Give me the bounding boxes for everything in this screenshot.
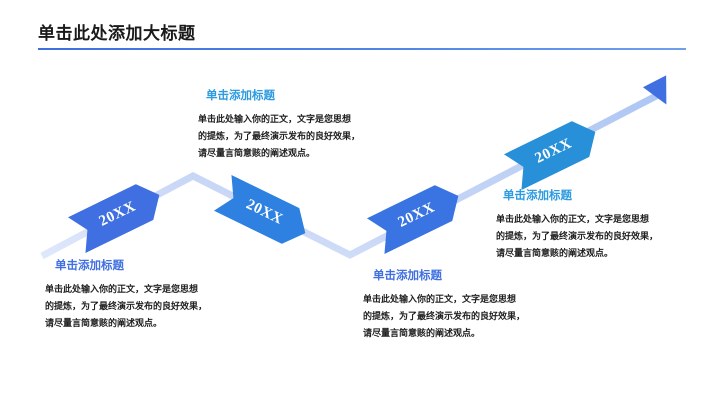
milestone-body-line: 单击此处输入你的正文，文字是您思想 xyxy=(363,291,525,308)
milestone-heading-1[interactable]: 单击添加标题 xyxy=(45,258,207,274)
milestone-body-line: 请尽量言简意赅的阐述观点。 xyxy=(45,315,207,332)
milestone-body-line: 的提炼，为了最终演示发布的良好效果， xyxy=(45,298,207,315)
milestone-body-2[interactable]: 单击此处输入你的正文，文字是您思想 的提炼，为了最终演示发布的良好效果， 请尽量… xyxy=(198,111,360,162)
milestone-text-block-2: 单击添加标题 单击此处输入你的正文，文字是您思想 的提炼，为了最终演示发布的良好… xyxy=(198,88,360,162)
milestone-body-line: 请尽量言简意赅的阐述观点。 xyxy=(198,145,360,162)
milestone-heading-2[interactable]: 单击添加标题 xyxy=(198,88,360,104)
milestone-body-line: 单击此处输入你的正文，文字是您思想 xyxy=(198,111,360,128)
milestone-banner-4[interactable]: 20XX xyxy=(504,114,604,190)
milestone-banner-1[interactable]: 20XX xyxy=(68,177,168,253)
milestone-body-line: 的提炼，为了最终演示发布的良好效果， xyxy=(363,308,525,325)
milestone-body-line: 的提炼，为了最终演示发布的良好效果， xyxy=(198,128,360,145)
milestone-body-line: 单击此处输入你的正文，文字是您思想 xyxy=(45,281,207,298)
milestone-year-label-4: 20XX xyxy=(532,135,574,167)
milestone-body-line: 请尽量言简意赅的阐述观点。 xyxy=(496,245,658,262)
milestone-banner-2[interactable]: 20XX xyxy=(214,175,314,251)
milestone-year-label-2: 20XX xyxy=(243,196,285,228)
page-title[interactable]: 单击此处添加大标题 xyxy=(38,23,196,45)
milestone-year-label-3: 20XX xyxy=(395,199,437,231)
milestone-year-label-1: 20XX xyxy=(96,198,138,230)
milestone-body-4[interactable]: 单击此处输入你的正文，文字是您思想 的提炼，为了最终演示发布的良好效果， 请尽量… xyxy=(496,211,658,262)
slide-header: 单击此处添加大标题 xyxy=(38,23,686,53)
title-underline-divider xyxy=(38,48,686,50)
milestone-body-line: 请尽量言简意赅的阐述观点。 xyxy=(363,325,525,342)
arrow-head-icon xyxy=(643,75,678,110)
milestone-body-1[interactable]: 单击此处输入你的正文，文字是您思想 的提炼，为了最终演示发布的良好效果， 请尽量… xyxy=(45,281,207,332)
milestone-heading-3[interactable]: 单击添加标题 xyxy=(363,268,525,284)
milestone-heading-4[interactable]: 单击添加标题 xyxy=(496,188,658,204)
milestone-text-block-4: 单击添加标题 单击此处输入你的正文，文字是您思想 的提炼，为了最终演示发布的良好… xyxy=(496,188,658,262)
slide-canvas: 单击此处添加大标题 20XX 20XX 20XX 20XX 单击添加标题 xyxy=(0,0,720,405)
milestone-body-3[interactable]: 单击此处输入你的正文，文字是您思想 的提炼，为了最终演示发布的良好效果， 请尽量… xyxy=(363,291,525,342)
milestone-body-line: 单击此处输入你的正文，文字是您思想 xyxy=(496,211,658,228)
milestone-banner-3[interactable]: 20XX xyxy=(367,178,467,254)
milestone-text-block-3: 单击添加标题 单击此处输入你的正文，文字是您思想 的提炼，为了最终演示发布的良好… xyxy=(363,268,525,342)
milestone-body-line: 的提炼，为了最终演示发布的良好效果， xyxy=(496,228,658,245)
milestone-text-block-1: 单击添加标题 单击此处输入你的正文，文字是您思想 的提炼，为了最终演示发布的良好… xyxy=(45,258,207,332)
